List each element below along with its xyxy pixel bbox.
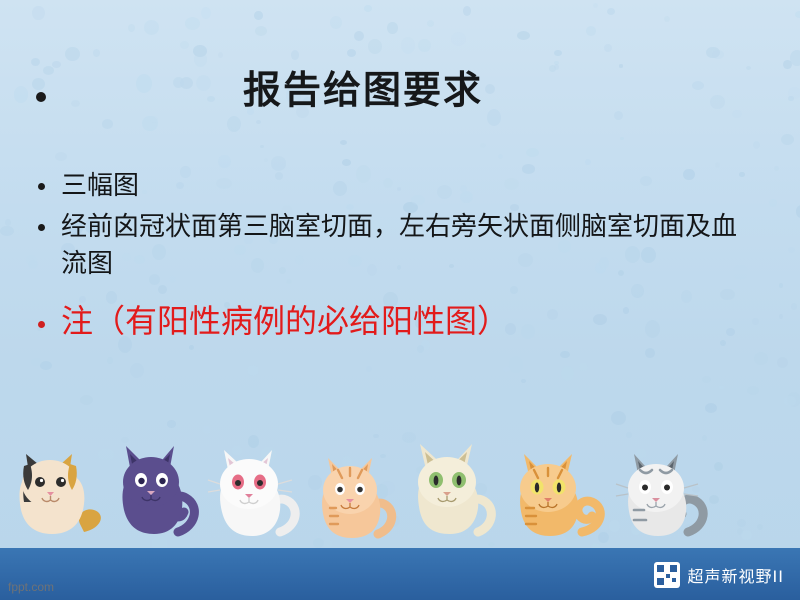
slide-body: 三幅图 经前囟冠状面第三脑室切面，左右旁矢状面侧脑室切面及血流图 注（有阳性病例… [38, 168, 758, 342]
list-item: 经前囟冠状面第三脑室切面，左右旁矢状面侧脑室切面及血流图 [38, 209, 758, 283]
orange-tabby-cat [308, 438, 404, 544]
note-line: 注（有阳性病例的必给阳性图） [38, 301, 758, 343]
qr-code-icon [654, 562, 680, 588]
watermark-label: 超声新视野II [688, 563, 784, 587]
list-item: 三幅图 [38, 168, 758, 205]
slide-canvas: 报告给图要求 三幅图 经前囟冠状面第三脑室切面，左右旁矢状面侧脑室切面及血流图 … [0, 0, 800, 600]
cat-illustration-row [0, 434, 800, 544]
grey-cat [614, 436, 718, 544]
page-title: 报告给图要求 [46, 68, 760, 114]
note-bullet-icon [38, 321, 45, 328]
list-item-label: 经前囟冠状面第三脑室切面，左右旁矢状面侧脑室切面及血流图 [61, 209, 758, 283]
list-item-label: 三幅图 [61, 168, 139, 205]
title-bullet-icon [36, 92, 46, 102]
white-cat [206, 434, 306, 544]
watermark: 超声新视野II [654, 562, 784, 588]
bullet-icon [38, 224, 45, 231]
note-label: 注（有阳性病例的必给阳性图） [61, 301, 509, 343]
purple-cat [108, 432, 206, 544]
slide-title-row: 报告给图要求 [36, 68, 760, 114]
calico-cat [6, 436, 110, 544]
cream-cat [404, 432, 504, 544]
ginger-cat [506, 436, 614, 544]
bullet-icon [38, 183, 45, 190]
brand-label: fppt.com [8, 580, 54, 594]
